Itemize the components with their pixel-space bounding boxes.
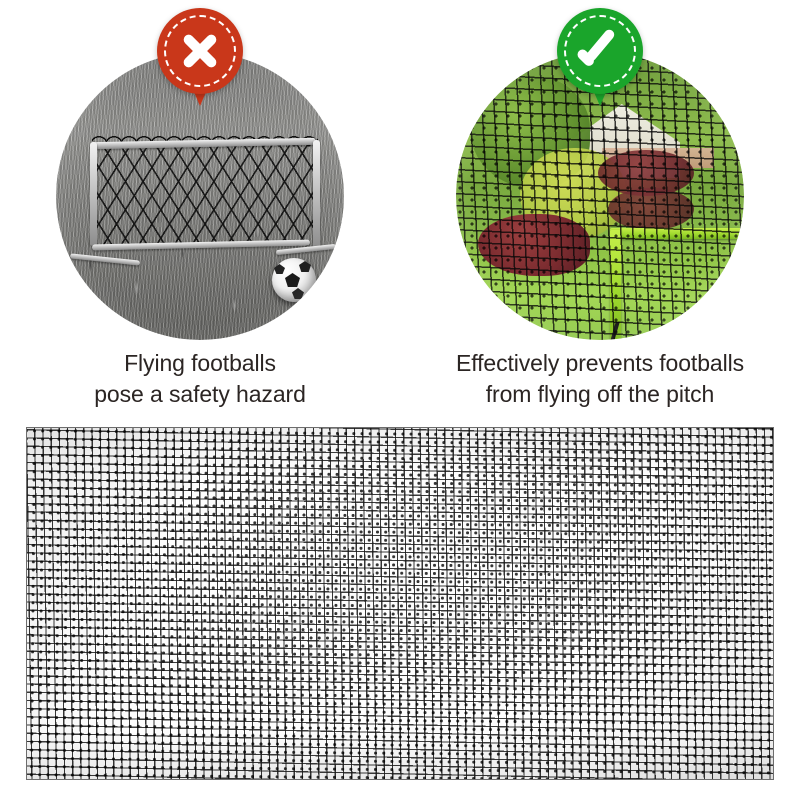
- caption-line-2: pose a safety hazard: [0, 379, 400, 410]
- badge-check-pin: [557, 8, 643, 106]
- soccer-goal-gray: [86, 138, 322, 256]
- mesh-knots: [26, 427, 774, 780]
- cross-icon: [157, 8, 243, 94]
- caption-positive: Effectively prevents footballs from flyi…: [400, 348, 800, 409]
- comparison-panel-positive: Effectively prevents footballs from flyi…: [400, 0, 800, 420]
- soccer-ball-patch: [292, 288, 304, 299]
- infographic-canvas: Flying footballs pose a safety hazard: [0, 0, 800, 800]
- caption-line-1: Effectively prevents footballs: [400, 348, 800, 379]
- mesh-swatch-panel: [26, 427, 774, 780]
- soccer-ball-icon: [272, 258, 316, 302]
- goal-post-right: [313, 140, 320, 248]
- check-icon: [557, 8, 643, 94]
- caption-line-2: from flying off the pitch: [400, 379, 800, 410]
- goal-post-left: [90, 142, 97, 246]
- caption-negative: Flying footballs pose a safety hazard: [0, 348, 400, 409]
- comparison-row: Flying footballs pose a safety hazard: [0, 0, 800, 420]
- goal-net-mesh: [94, 144, 316, 246]
- soccer-ball-patch: [274, 264, 285, 274]
- caption-line-1: Flying footballs: [0, 348, 400, 379]
- badge-cross-pin: [157, 8, 243, 106]
- comparison-panel-negative: Flying footballs pose a safety hazard: [0, 0, 400, 420]
